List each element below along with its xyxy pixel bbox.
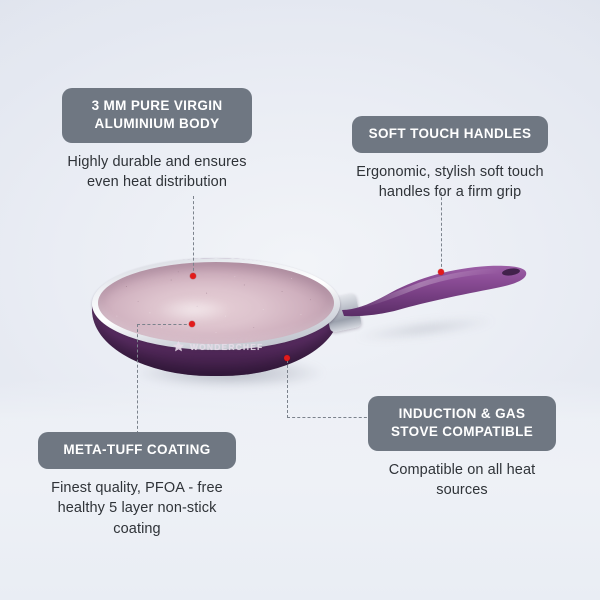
callout-title-line-1: SOFT TOUCH HANDLES [366,125,534,143]
callout-meta-tuff-coating: META-TUFF COATING Finest quality, PFOA -… [38,432,236,540]
callout-title-line-2: STOVE COMPATIBLE [382,423,542,441]
callout-title-line-2: ALUMINIUM BODY [76,115,238,133]
pan-nonstick-surface [98,262,334,344]
callout-title-induction-compatible: INDUCTION & GAS STOVE COMPATIBLE [368,396,556,451]
callout-description-soft-touch-handles: Ergonomic, stylish soft touch handles fo… [352,162,548,203]
pan-interior-sheen [138,292,248,328]
callout-description-meta-tuff-coating: Finest quality, PFOA - free healthy 5 la… [38,478,236,540]
callout-title-line-1: META-TUFF COATING [52,441,222,459]
callout-description-induction-compatible: Compatible on all heat sources [368,460,556,501]
callout-title-soft-touch-handles: SOFT TOUCH HANDLES [352,116,548,153]
brand-logo: WONDERCHEF [172,340,263,353]
callout-soft-touch-handles: SOFT TOUCH HANDLES Ergonomic, stylish so… [352,116,548,203]
callout-title-meta-tuff-coating: META-TUFF COATING [38,432,236,469]
callout-description-aluminium-body: Highly durable and ensures even heat dis… [62,152,252,193]
callout-aluminium-body: 3 MM PURE VIRGIN ALUMINIUM BODY Highly d… [62,88,252,193]
callout-title-line-1: 3 MM PURE VIRGIN [76,97,238,115]
pan-handle [340,258,530,318]
callout-induction-compatible: INDUCTION & GAS STOVE COMPATIBLE Compati… [368,396,556,501]
callout-title-aluminium-body: 3 MM PURE VIRGIN ALUMINIUM BODY [62,88,252,143]
infographic-canvas: WONDERCHEF 3 MM PURE VIRGIN ALUMINIUM BO… [0,0,600,600]
brand-name: WONDERCHEF [190,342,263,352]
callout-title-line-1: INDUCTION & GAS [382,405,542,423]
star-icon [172,340,185,353]
